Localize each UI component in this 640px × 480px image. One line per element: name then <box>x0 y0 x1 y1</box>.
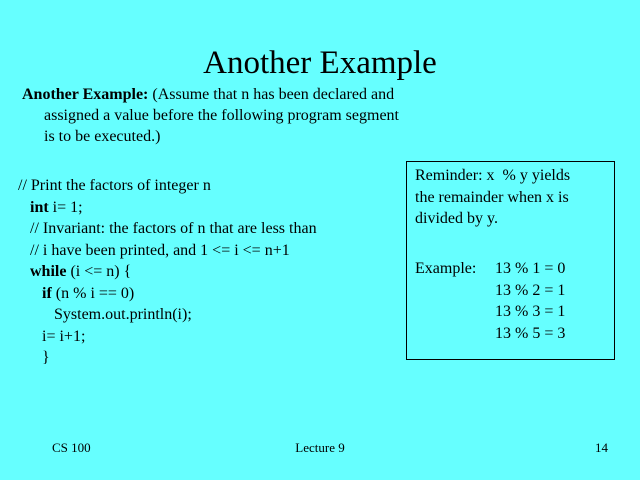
intro-line-3: is to be executed.) <box>22 126 392 147</box>
footer-lecture-label: Lecture 9 <box>0 440 640 456</box>
code-line-println: System.out.println(i); <box>18 304 398 326</box>
example-row-1: Example:13 % 1 = 0 <box>415 258 615 280</box>
reminder-line-1: Reminder: x % y yields <box>415 165 615 187</box>
intro-line-1: Another Example: (Assume that n has been… <box>22 84 392 105</box>
code-line-while: while (i <= n) { <box>18 261 398 283</box>
example-label: Example: <box>415 258 495 280</box>
code-line-if: if (n % i == 0) <box>18 283 398 305</box>
code-line-comment-invariant-1: // Invariant: the factors of n that are … <box>18 218 398 240</box>
reminder-line-2: the remainder when x is <box>415 187 615 209</box>
page-title: Another Example <box>0 44 640 82</box>
example-value-4: 13 % 5 = 3 <box>495 325 565 342</box>
intro-paragraph: Another Example: (Assume that n has been… <box>22 84 392 147</box>
intro-label: Another Example: <box>22 86 148 103</box>
example-row-2: 13 % 2 = 1 <box>415 280 615 302</box>
slide-footer: CS 100 Lecture 9 14 <box>0 440 640 460</box>
code-line-comment-print: // Print the factors of integer n <box>18 175 398 197</box>
example-value-2: 13 % 2 = 1 <box>495 282 565 299</box>
intro-line-2: assigned a value before the following pr… <box>22 105 392 126</box>
reminder-callout-box: Reminder: x % y yields the remainder whe… <box>406 161 615 360</box>
code-line-int-declaration: int i= 1; <box>18 197 398 219</box>
slide-canvas: Another Example Another Example: (Assume… <box>0 0 640 480</box>
reminder-examples: Example:13 % 1 = 0 13 % 2 = 1 13 % 3 = 1… <box>415 258 615 344</box>
reminder-line-3: divided by y. <box>415 208 615 230</box>
footer-page-number: 14 <box>595 440 608 456</box>
example-value-1: 13 % 1 = 0 <box>495 260 565 277</box>
code-line-int-rest: i= 1; <box>49 199 83 216</box>
reminder-description: Reminder: x % y yields the remainder whe… <box>415 165 615 230</box>
code-line-increment: i= i+1; <box>18 326 398 348</box>
example-row-4: 13 % 5 = 3 <box>415 323 615 345</box>
keyword-int: int <box>30 199 49 216</box>
intro-line-1-text: (Assume that n has been declared and <box>148 86 394 103</box>
keyword-if: if <box>42 285 52 302</box>
keyword-while: while <box>30 263 66 280</box>
example-value-3: 13 % 3 = 1 <box>495 303 565 320</box>
code-line-close-brace: } <box>18 347 398 369</box>
code-listing: // Print the factors of integer n int i=… <box>18 175 398 369</box>
example-row-3: 13 % 3 = 1 <box>415 301 615 323</box>
code-line-while-rest: (i <= n) { <box>66 263 131 280</box>
code-line-comment-invariant-2: // i have been printed, and 1 <= i <= n+… <box>18 240 398 262</box>
code-line-if-rest: (n % i == 0) <box>52 285 134 302</box>
